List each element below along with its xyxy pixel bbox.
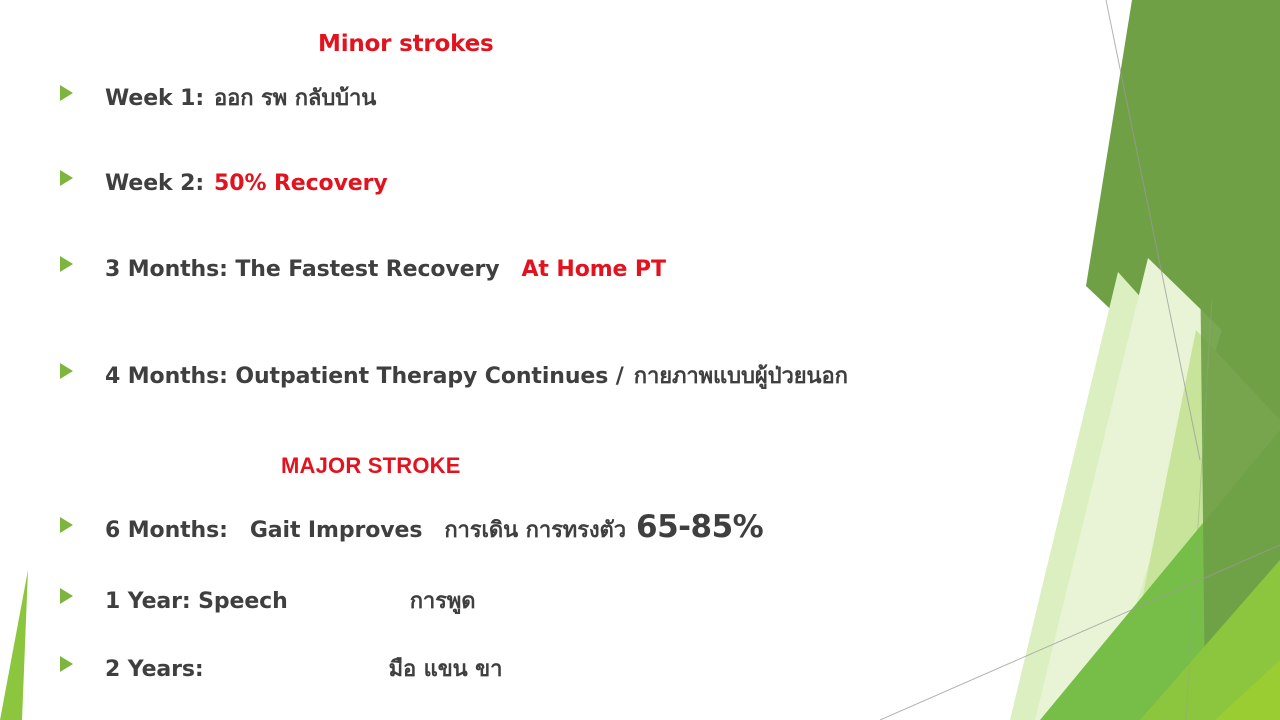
- heading-minor-strokes: Minor strokes: [318, 31, 494, 57]
- bullet-1-year: 1 Year: Speechการพูด: [60, 583, 475, 618]
- bullet-week-1: Week 1:ออก รพ กลับบ้าน: [60, 80, 376, 115]
- decor-hairline-vertical: [1186, 300, 1212, 720]
- decor-right-dark-green: [1118, 0, 1280, 720]
- bullet-triangle-icon: [60, 256, 73, 272]
- bullet-triangle-icon: [60, 517, 73, 533]
- decor-hairline-upper: [1106, 0, 1200, 460]
- bullet-1-year-thai: การพูด: [410, 589, 476, 614]
- bullet-6-months-text: 6 Months:Gait Improvesการเดิน การทรงตัว6…: [105, 509, 763, 547]
- bullet-3-months-text: 3 Months: The Fastest RecoveryAt Home PT: [105, 257, 666, 282]
- bullet-week-2-highlight: 50% Recovery: [214, 171, 388, 196]
- bullet-week-2-text: Week 2:50% Recovery: [105, 171, 388, 196]
- bullet-4-months-thai: กายภาพแบบผู้ป่วยนอก: [634, 364, 848, 389]
- bullet-triangle-icon: [60, 170, 73, 186]
- decor-bottom-right-bright: [1140, 560, 1280, 720]
- presentation-slide: Minor strokes Week 1:ออก รพ กลับบ้าน Wee…: [0, 0, 1280, 720]
- bullet-week-1-label: Week 1:: [105, 86, 204, 111]
- bullet-week-2: Week 2:50% Recovery: [60, 171, 388, 196]
- bullet-triangle-icon: [60, 363, 73, 379]
- bullet-triangle-icon: [60, 656, 73, 672]
- decor-pale-wedge: [1010, 272, 1280, 720]
- decor-corner-accent: [1215, 660, 1280, 720]
- heading-major-stroke: MAJOR STROKE: [281, 453, 461, 479]
- decor-right-edge-dark: [1200, 250, 1280, 700]
- bullet-week-2-label: Week 2:: [105, 171, 204, 196]
- slide-content-area: Minor strokes Week 1:ออก รพ กลับบ้าน Wee…: [0, 0, 1010, 720]
- decor-mid-green-band: [1040, 430, 1280, 720]
- bullet-triangle-icon: [60, 588, 73, 604]
- bullet-6-months: 6 Months:Gait Improvesการเดิน การทรงตัว6…: [60, 509, 763, 547]
- bullet-4-months-text: 4 Months: Outpatient Therapy Continues /…: [105, 358, 848, 393]
- bullet-2-years-thai: มือ แขน ขา: [389, 657, 503, 682]
- bullet-triangle-icon: [60, 85, 73, 101]
- bullet-2-years-text: 2 Years:มือ แขน ขา: [105, 651, 502, 686]
- bullet-3-months-highlight: At Home PT: [521, 257, 665, 282]
- decor-top-right-triangle: [1086, 0, 1280, 470]
- bullet-3-months: 3 Months: The Fastest RecoveryAt Home PT: [60, 257, 666, 282]
- bullet-6-months-thai: การเดิน การทรงตัว: [444, 518, 626, 543]
- bullet-6-months-emphasis: 65-85%: [636, 509, 763, 545]
- bullet-2-years: 2 Years:มือ แขน ขา: [60, 651, 502, 686]
- bullet-4-months-label: 4 Months: Outpatient Therapy Continues /: [105, 364, 624, 389]
- decor-pale-sliver: [1035, 258, 1222, 720]
- bullet-1-year-label: 1 Year: Speech: [105, 589, 288, 614]
- bullet-3-months-label: 3 Months: The Fastest Recovery: [105, 257, 499, 282]
- bullet-6-months-sub: Gait Improves: [250, 518, 423, 543]
- bullet-1-year-text: 1 Year: Speechการพูด: [105, 583, 475, 618]
- bullet-2-years-label: 2 Years:: [105, 657, 204, 682]
- bullet-week-1-text: Week 1:ออก รพ กลับบ้าน: [105, 80, 376, 115]
- bullet-4-months: 4 Months: Outpatient Therapy Continues /…: [60, 358, 848, 393]
- decor-light-green-wedge: [1118, 330, 1280, 720]
- bullet-6-months-label: 6 Months:: [105, 518, 228, 543]
- bullet-week-1-thai: ออก รพ กลับบ้าน: [214, 86, 376, 111]
